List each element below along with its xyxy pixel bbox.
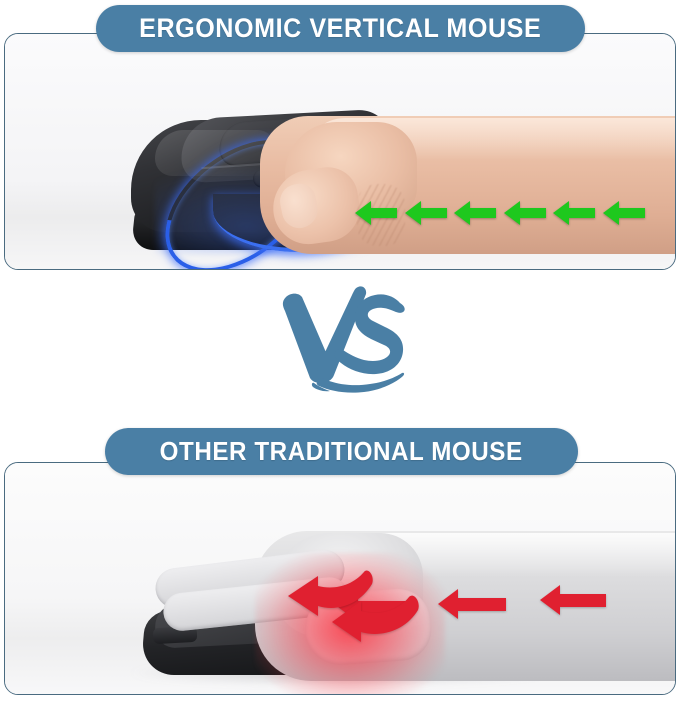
- ergonomic-vertical-mouse-banner: ERGONOMIC VERTICAL MOUSE: [96, 5, 585, 52]
- banner-bottom-label: OTHER TRADITIONAL MOUSE: [160, 436, 523, 467]
- vertical-mouse-photo: [5, 34, 675, 269]
- green-arrow-left-icon: [504, 201, 546, 225]
- arrow-shaft: [558, 594, 606, 607]
- traditional-mouse-banner: OTHER TRADITIONAL MOUSE: [105, 428, 578, 475]
- vs-divider-icon: [272, 283, 412, 395]
- ergonomic-vertical-mouse-panel: [4, 33, 676, 270]
- green-arrow-row: [355, 196, 645, 230]
- green-arrow-left-icon: [553, 201, 595, 225]
- arrow-shaft: [456, 598, 506, 611]
- green-arrow-left-icon: [454, 201, 496, 225]
- red-arrow-left-icon: [438, 589, 506, 619]
- arrow-head: [540, 585, 560, 615]
- banner-top-label: ERGONOMIC VERTICAL MOUSE: [139, 13, 541, 44]
- green-arrow-left-icon: [355, 201, 397, 225]
- green-arrow-left-icon: [405, 201, 447, 225]
- arrow-head: [438, 589, 458, 619]
- red-curved-arrow-icon: [330, 582, 422, 644]
- red-arrow-left-icon: [540, 585, 606, 615]
- green-arrow-left-icon: [603, 201, 645, 225]
